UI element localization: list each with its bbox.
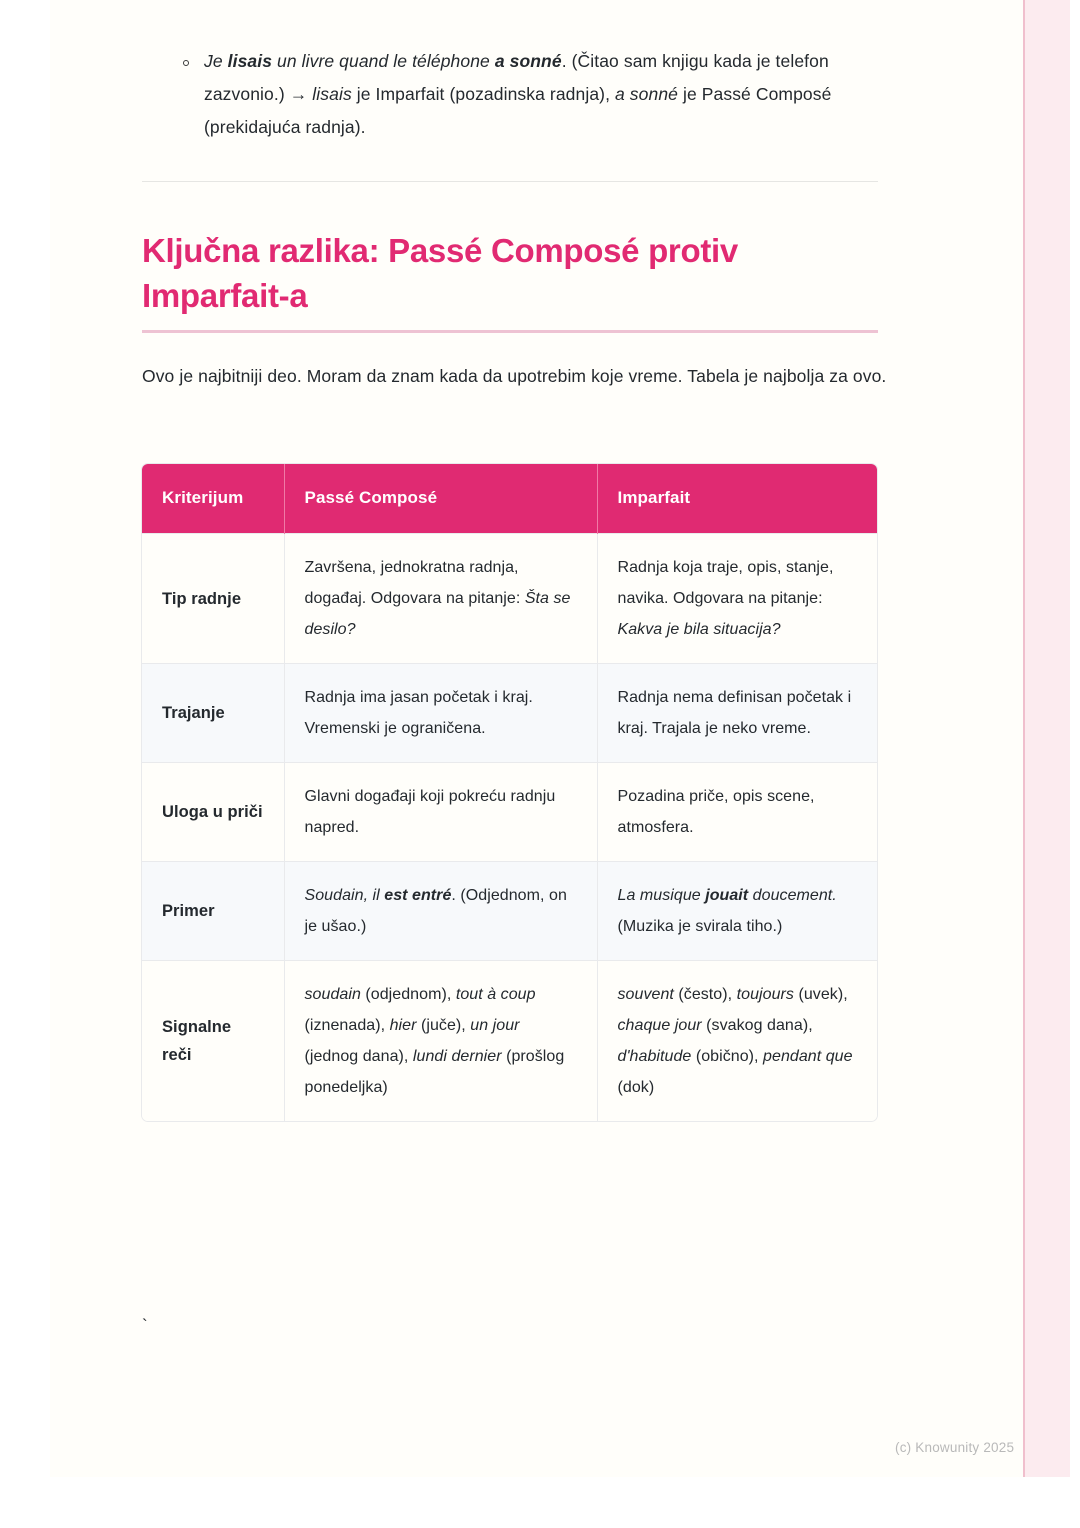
cell-imparfait: Radnja koja traje, opis, stanje, navika.… xyxy=(597,534,877,664)
signal-word-2: tout à coup xyxy=(456,986,536,1003)
table-row: Trajanje Radnja ima jasan početak i kraj… xyxy=(142,664,877,763)
signal-word-2: toujours xyxy=(737,986,794,1003)
table-row: Primer Soudain, il est entré. (Odjednom,… xyxy=(142,862,877,961)
example-ref-lisais: lisais xyxy=(312,84,352,104)
content-column: Je lisais un livre quand le téléphone a … xyxy=(142,45,878,144)
signal-word-5: lundi dernier xyxy=(413,1048,502,1065)
example-ref-a-sonne: a sonné xyxy=(615,84,678,104)
example-fr-part1: Je xyxy=(204,51,228,71)
cell-criterion: Tip radnje xyxy=(142,534,284,664)
signal-gloss-1: (često), xyxy=(674,986,737,1003)
cell-imparfait: souvent (često), toujours (uvek), chaque… xyxy=(597,961,877,1122)
cell-text-italic-2: doucement. xyxy=(748,887,837,904)
cell-text: Završena, jednokratna radnja, događaj. O… xyxy=(305,559,525,607)
cell-text-bold-italic: est entré xyxy=(384,887,451,904)
cell-imparfait: La musique jouait doucement. (Muzika je … xyxy=(597,862,877,961)
column-header-imparfait: Imparfait xyxy=(597,464,877,534)
cell-passe-compose: Završena, jednokratna radnja, događaj. O… xyxy=(284,534,597,664)
example-explanation-1: je Imparfait (pozadinska radnja), xyxy=(352,84,615,104)
signal-gloss-1: (odjednom), xyxy=(361,986,456,1003)
page-title: Ključna razlika: Passé Composé protiv Im… xyxy=(142,228,852,318)
cell-imparfait: Radnja nema definisan početak i kraj. Tr… xyxy=(597,664,877,763)
signal-gloss-2: (uvek), xyxy=(794,986,848,1003)
signal-word-4: d'habitude xyxy=(618,1048,692,1065)
cell-criterion: Signalne reči xyxy=(142,961,284,1122)
column-header-passe-compose: Passé Composé xyxy=(284,464,597,534)
table-header: Kriterijum Passé Composé Imparfait xyxy=(142,464,877,534)
cell-passe-compose: Soudain, il est entré. (Odjednom, on je … xyxy=(284,862,597,961)
cell-text-italic: Kakva je bila situacija? xyxy=(618,621,781,638)
signal-gloss-3: (svakog dana), xyxy=(702,1017,813,1034)
cell-passe-compose: soudain (odjednom), tout à coup (iznenad… xyxy=(284,961,597,1122)
document-page: Je lisais un livre quand le téléphone a … xyxy=(50,0,1025,1477)
example-fr-part2: un livre quand le téléphone xyxy=(272,51,495,71)
table-body: Tip radnje Završena, jednokratna radnja,… xyxy=(142,534,877,1122)
cell-text: Radnja koja traje, opis, stanje, navika.… xyxy=(618,559,834,607)
cell-criterion: Primer xyxy=(142,862,284,961)
signal-gloss-4: (obično), xyxy=(691,1048,763,1065)
cell-text-italic: Soudain, il xyxy=(305,887,385,904)
cell-criterion: Uloga u priči xyxy=(142,763,284,862)
stray-backtick: ` xyxy=(142,1316,148,1336)
signal-word-1: souvent xyxy=(618,986,674,1003)
signal-word-3: chaque jour xyxy=(618,1017,702,1034)
cell-text: Glavni događaji koji pokreću radnju napr… xyxy=(305,788,556,836)
cell-text-italic: La musique xyxy=(618,887,706,904)
table-row: Signalne reči soudain (odjednom), tout à… xyxy=(142,961,877,1122)
cell-text: Pozadina priče, opis scene, atmosfera. xyxy=(618,788,815,836)
example-bullet-list: Je lisais un livre quand le téléphone a … xyxy=(142,45,878,144)
signal-word-4: un jour xyxy=(470,1017,519,1034)
signal-word-1: soudain xyxy=(305,986,361,1003)
cell-passe-compose: Glavni događaji koji pokreću radnju napr… xyxy=(284,763,597,862)
table-row: Tip radnje Završena, jednokratna radnja,… xyxy=(142,534,877,664)
cell-text: Radnja nema definisan početak i kraj. Tr… xyxy=(618,689,852,737)
heading-underline xyxy=(142,330,878,333)
signal-gloss-5: (dok) xyxy=(618,1079,655,1096)
list-item: Je lisais un livre quand le téléphone a … xyxy=(142,45,878,144)
table-header-row: Kriterijum Passé Composé Imparfait xyxy=(142,464,877,534)
example-fr-verb-passe-compose: a sonné xyxy=(495,51,562,71)
example-fr-verb-imparfait: lisais xyxy=(228,51,272,71)
signal-word-5: pendant que xyxy=(763,1048,853,1065)
intro-paragraph: Ovo je najbitniji deo. Moram da znam kad… xyxy=(142,359,902,394)
comparison-table: Kriterijum Passé Composé Imparfait Tip r… xyxy=(142,464,877,1121)
copyright-watermark: (c) Knowunity 2025 xyxy=(895,1440,1014,1455)
signal-gloss-2: (iznenada), xyxy=(305,1017,390,1034)
signal-gloss-3: (juče), xyxy=(416,1017,470,1034)
signal-gloss-4: (jednog dana), xyxy=(305,1048,413,1065)
signal-word-3: hier xyxy=(390,1017,417,1034)
cell-passe-compose: Radnja ima jasan početak i kraj. Vremens… xyxy=(284,664,597,763)
cell-text: (Muzika je svirala tiho.) xyxy=(618,918,783,935)
cell-text: Radnja ima jasan početak i kraj. Vremens… xyxy=(305,689,533,737)
cell-criterion: Trajanje xyxy=(142,664,284,763)
decorative-side-band xyxy=(1023,0,1070,1477)
section-divider xyxy=(142,181,878,182)
table-row: Uloga u priči Glavni događaji koji pokre… xyxy=(142,763,877,862)
cell-text-bold-italic: jouait xyxy=(705,887,748,904)
cell-imparfait: Pozadina priče, opis scene, atmosfera. xyxy=(597,763,877,862)
column-header-criterion: Kriterijum xyxy=(142,464,284,534)
